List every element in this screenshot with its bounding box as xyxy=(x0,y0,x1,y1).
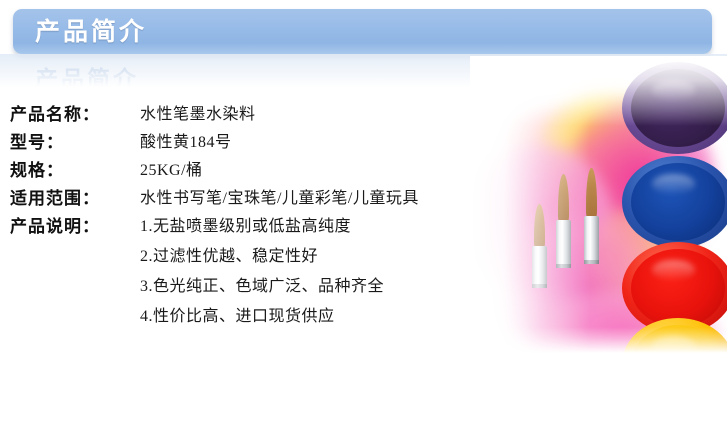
spec-label: 规格： xyxy=(10,156,140,181)
spec-row-product-name: 产品名称： 水性笔墨水染料 xyxy=(10,100,480,128)
brush-ferrule xyxy=(532,246,547,288)
spec-value: 水性笔墨水染料 xyxy=(140,100,480,124)
spec-value: 水性书写笔/宝珠笔/儿童彩笔/儿童玩具 xyxy=(140,184,480,208)
spec-row-specification: 规格： 25KG/桶 xyxy=(10,156,480,184)
page-title: 产品简介 xyxy=(35,13,147,51)
spec-label: 型号： xyxy=(10,128,140,153)
paintbrush-middle xyxy=(556,174,571,353)
paintbrush-right xyxy=(584,168,599,353)
brush-bristle xyxy=(586,168,597,218)
pot-ink xyxy=(631,249,725,327)
brush-ferrule xyxy=(556,220,571,268)
brush-bristle xyxy=(558,174,569,222)
pot-gloss xyxy=(652,174,695,194)
brush-ferrule xyxy=(584,216,599,264)
photo-canvas xyxy=(470,56,727,353)
brush-handle xyxy=(532,288,547,353)
spec-label: 产品说明： xyxy=(10,212,140,237)
pot-ink xyxy=(631,69,725,147)
spec-value: 酸性黄184号 xyxy=(140,128,480,152)
brush-handle xyxy=(584,264,599,353)
brush-bristle xyxy=(534,204,545,248)
paintbrush-left xyxy=(532,204,547,353)
spec-label: 适用范围： xyxy=(10,184,140,209)
pot-gloss xyxy=(652,336,695,353)
spec-label: 产品名称： xyxy=(10,100,140,125)
pot-gloss xyxy=(652,260,695,280)
pot-gloss xyxy=(652,80,695,100)
brush-handle xyxy=(556,268,571,353)
spec-row-model: 型号： 酸性黄184号 xyxy=(10,128,480,156)
spec-row-application-scope: 适用范围： 水性书写笔/宝珠笔/儿童彩笔/儿童玩具 xyxy=(10,184,480,212)
blue-paint-pot xyxy=(622,156,727,248)
pot-ink xyxy=(631,163,725,241)
watercolor-paints-and-brushes-photo xyxy=(470,56,727,353)
page-header-banner: 产品简介 xyxy=(13,9,712,54)
banner-ghost-title: 产品简介 xyxy=(35,60,139,94)
product-intro-page: 产品简介 产品简介 产品名称： 水性笔墨水染料 型号： 酸性黄184号 规格： … xyxy=(0,0,727,422)
purple-paint-pot xyxy=(622,62,727,154)
spec-value: 25KG/桶 xyxy=(140,156,480,180)
